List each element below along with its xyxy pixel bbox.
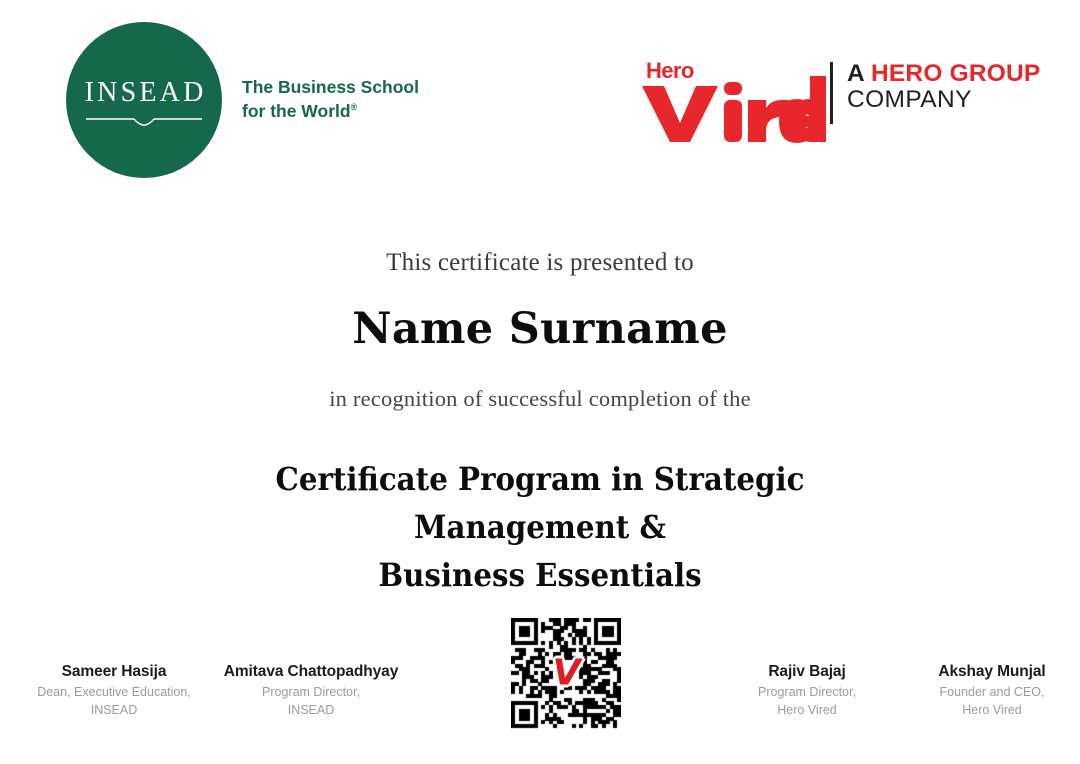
hero-vired-logo: Hero (640, 60, 1040, 144)
signatory-name: Akshay Munjal (887, 662, 1080, 682)
registered-trademark-icon: ® (351, 102, 358, 112)
signatory-organization: INSEAD (9, 702, 219, 720)
insead-tagline: The Business School for the World® (242, 76, 419, 123)
logo-header-row: INSEAD The Business School for the World… (0, 0, 1080, 200)
hero-group-prefix: A (847, 60, 871, 87)
recognition-text: in recognition of successful completion … (0, 386, 1080, 412)
insead-tagline-line-2-text: for the World (242, 101, 351, 121)
signatory-organization: INSEAD (206, 702, 416, 720)
insead-circle-mark: INSEAD (66, 22, 222, 178)
presented-to-text: This certificate is presented to (0, 248, 1080, 278)
signatory-block-4: Akshay Munjal Founder and CEO, Hero Vire… (887, 662, 1080, 720)
logo-divider (830, 62, 833, 124)
hero-group-red-text: HERO GROUP (871, 60, 1040, 87)
program-title-line-1: Certificate Program in Strategic Managem… (196, 456, 884, 552)
signatory-role: Founder and CEO, (887, 684, 1080, 702)
certificate-page: INSEAD The Business School for the World… (0, 0, 1080, 764)
signatory-block-1: Sameer Hasija Dean, Executive Education,… (9, 662, 219, 720)
qr-code[interactable]: V (511, 618, 621, 730)
insead-tagline-line-2: for the World® (242, 100, 419, 124)
insead-book-rule-icon (86, 118, 202, 132)
signatory-role: Dean, Executive Education, (9, 684, 219, 702)
hero-group-line-2: COMPANY (847, 87, 1040, 113)
vired-wordmark-icon (640, 76, 826, 149)
signatory-block-2: Amitava Chattopadhyay Program Director, … (206, 662, 416, 720)
signatory-block-3: Rajiv Bajaj Program Director, Hero Vired (702, 662, 912, 720)
signatory-organization: Hero Vired (702, 702, 912, 720)
qr-center-vired-logo-icon: V (553, 655, 580, 691)
hero-group-line-1: A HERO GROUP (847, 61, 1040, 87)
signatory-name: Rajiv Bajaj (702, 662, 912, 682)
insead-wordmark: INSEAD (66, 79, 222, 107)
signatory-name: Amitava Chattopadhyay (206, 662, 416, 682)
recipient-name: Name Surname (0, 306, 1080, 353)
insead-tagline-line-1: The Business School (242, 76, 419, 100)
program-title: Certificate Program in Strategic Managem… (196, 456, 884, 600)
signatory-role: Program Director, (702, 684, 912, 702)
certificate-footer: Sameer Hasija Dean, Executive Education,… (0, 618, 1080, 738)
hero-group-company-text: A HERO GROUP COMPANY (847, 60, 1040, 114)
hero-vired-wordmark: Hero (640, 60, 826, 144)
signatory-role: Program Director, (206, 684, 416, 702)
insead-logo: INSEAD The Business School for the World… (66, 22, 419, 178)
signatory-name: Sameer Hasija (9, 662, 219, 682)
program-title-line-2: Business Essentials (196, 552, 884, 600)
certificate-body: This certificate is presented to Name Su… (0, 248, 1080, 600)
signatory-organization: Hero Vired (887, 702, 1080, 720)
